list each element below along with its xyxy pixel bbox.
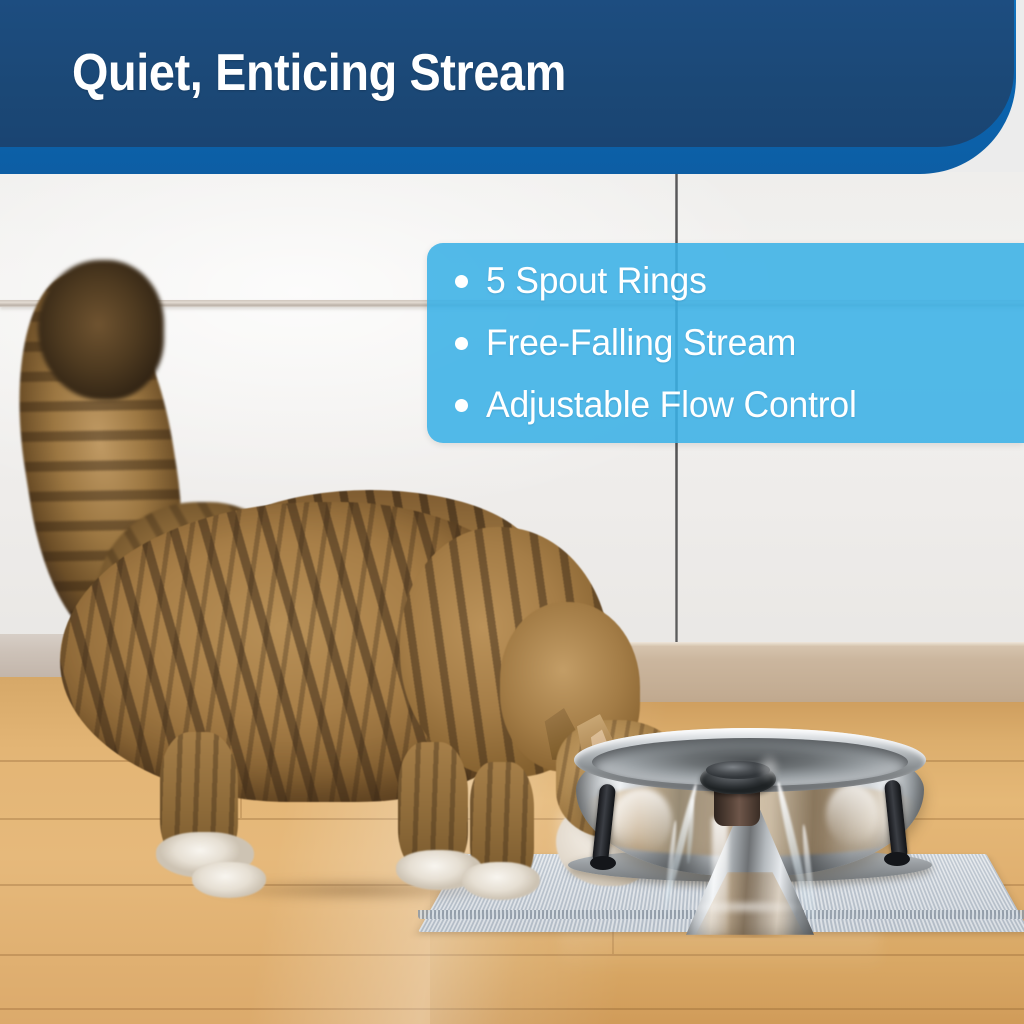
page-title: Quiet, Enticing Stream <box>72 43 566 103</box>
bullet-icon <box>455 337 468 350</box>
fountain-bowl-highlight <box>612 788 672 854</box>
water-splash <box>660 896 830 918</box>
feature-label: Adjustable Flow Control <box>486 384 857 426</box>
bullet-icon <box>455 275 468 288</box>
fountain-foot-pad <box>884 852 910 866</box>
feature-label: 5 Spout Rings <box>486 260 707 302</box>
water-mist <box>752 746 786 790</box>
header-banner: Quiet, Enticing Stream <box>0 0 1024 178</box>
feature-list-item: Free-Falling Stream <box>427 312 1024 374</box>
fountain-foot-pad <box>590 856 616 870</box>
feature-label: Free-Falling Stream <box>486 322 796 364</box>
bullet-icon <box>455 399 468 412</box>
feature-list-item: 5 Spout Rings <box>427 250 1024 312</box>
feature-list-item: Adjustable Flow Control <box>427 374 1024 436</box>
fountain-bowl-highlight <box>826 784 878 846</box>
feature-callout-panel: 5 Spout Rings Free-Falling Stream Adjust… <box>427 243 1024 443</box>
product-feature-image: Quiet, Enticing Stream 5 Spout Rings Fre… <box>0 0 1024 1024</box>
